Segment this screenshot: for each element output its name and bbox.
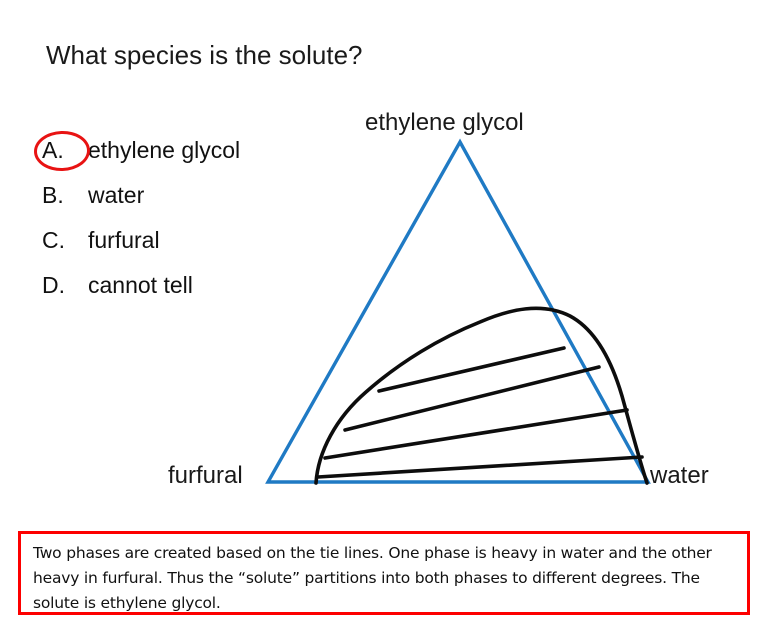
tie-line-4	[318, 457, 642, 477]
choice-label: furfural	[88, 227, 160, 254]
choice-label: water	[88, 182, 144, 209]
vertex-label-ethylene-glycol: ethylene glycol	[365, 109, 524, 137]
ternary-diagram-svg	[150, 100, 768, 510]
vertex-label-furfural: furfural	[168, 462, 243, 490]
ternary-phase-diagram: ethylene glycol furfural water	[150, 100, 768, 510]
vertex-label-water: water	[650, 462, 709, 490]
choice-letter: A.	[34, 137, 88, 164]
choice-letter: C.	[34, 227, 88, 254]
page-title: What species is the solute?	[46, 40, 363, 70]
choice-letter: D.	[34, 272, 88, 299]
choice-letter: B.	[34, 182, 88, 209]
tie-line-group	[318, 348, 642, 477]
tie-line-1	[379, 348, 564, 391]
triangle-outline	[268, 142, 648, 482]
explanation-text: Two phases are created based on the tie …	[33, 541, 735, 616]
explanation-callout-box: Two phases are created based on the tie …	[18, 531, 750, 615]
tie-line-3	[325, 410, 627, 458]
